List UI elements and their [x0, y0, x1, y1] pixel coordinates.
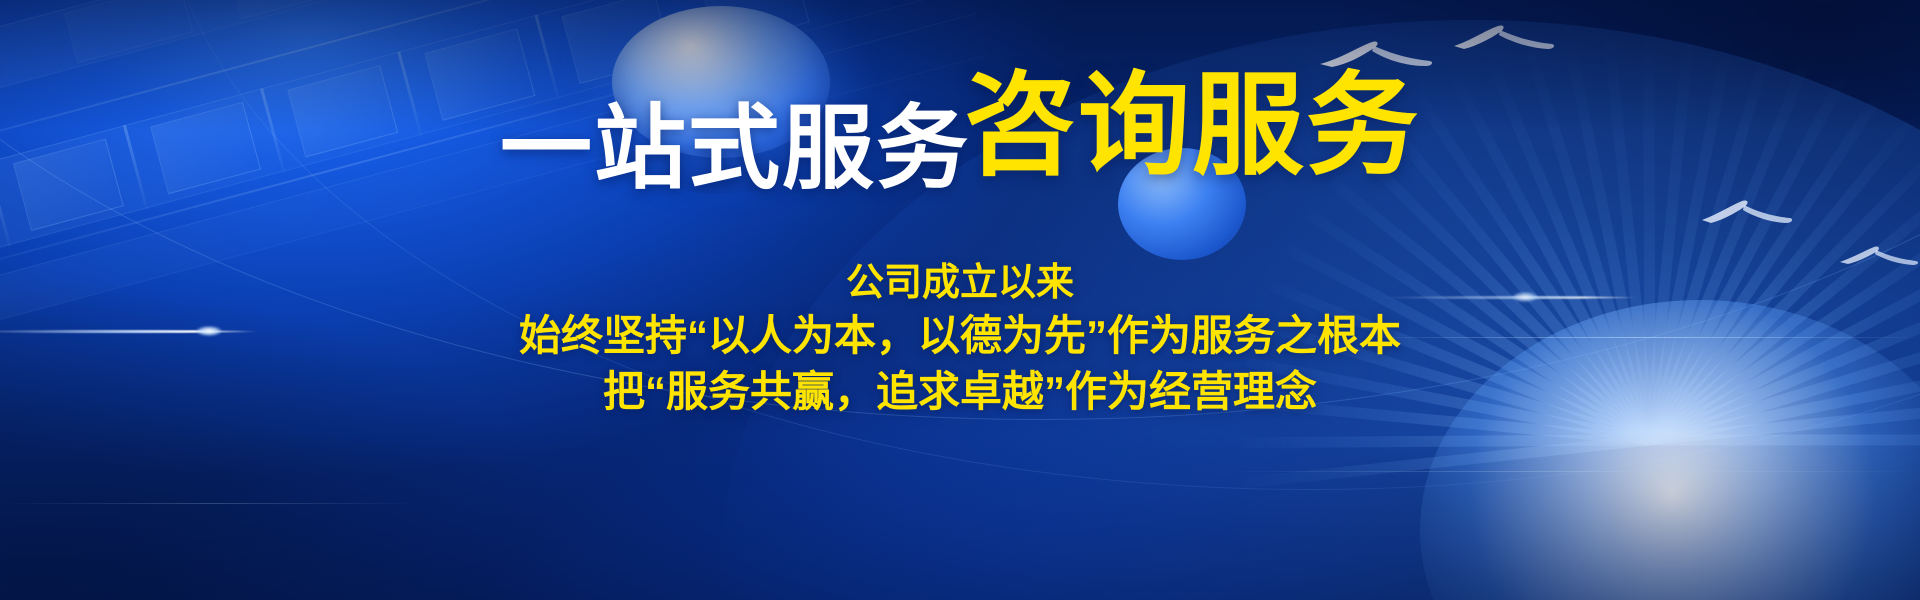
background-vignette: [0, 0, 1920, 600]
promo-banner: 一站式服务咨询服务 公司成立以来 始终坚持“以人为本，以德为先”作为服务之根本 …: [0, 0, 1920, 600]
